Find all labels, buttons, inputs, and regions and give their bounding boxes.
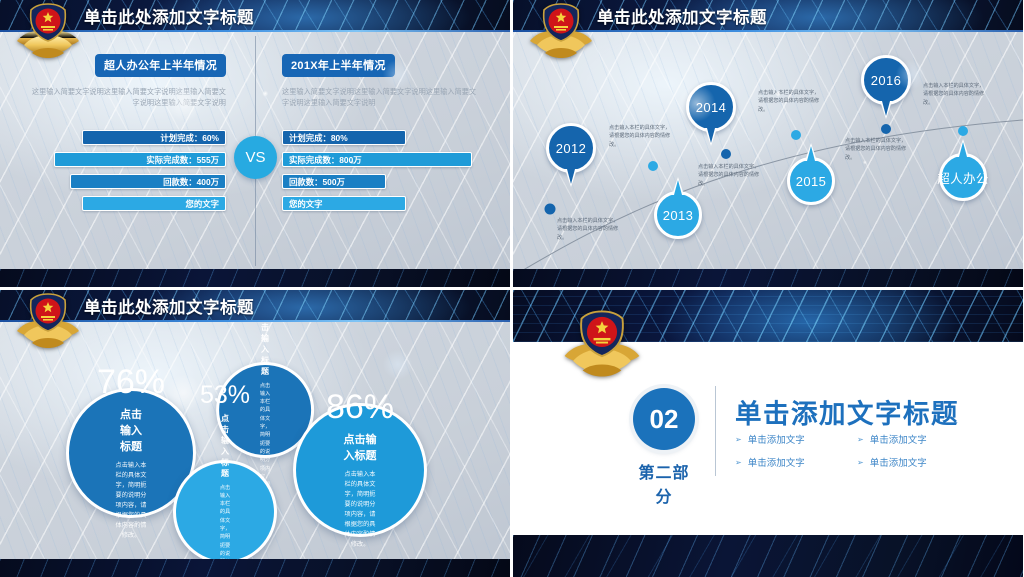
vertical-divider: [255, 36, 256, 266]
bubble-tail: [957, 139, 969, 157]
top-band-background: [513, 290, 1023, 342]
right-description: 这里输入简要文字说明这里输入简要文字说明这里输入简要文字说明这里输入简要文字说明: [282, 86, 482, 108]
left-chip-label: 超人办公年上半年情况: [95, 54, 226, 77]
timeline-bubble-2016[interactable]: 2016: [861, 55, 911, 105]
timeline-dot-3[interactable]: [721, 149, 731, 159]
timeline-bubble-custom[interactable]: 超人办公: [939, 153, 987, 201]
circle-group: 76% 点击输入标题 点击输入本栏的具体文字，简明扼要的说明分项内容，请根据您的…: [0, 322, 510, 559]
timeline-dot-6[interactable]: [958, 126, 968, 136]
slide-thumbnail-grid: 超人办公年上半年情况 这里输入简要文字说明这里输入简要文字说明这里输入简要文字说…: [0, 0, 1024, 577]
stat-body: 点击输入本栏的具体文字，简明扼要的说明分项内容，请根据您的具体内容酌情修改。: [220, 484, 230, 559]
timeline-bubble-label: 超人办公: [937, 168, 989, 187]
stat-title: 点击输入标题: [115, 406, 147, 454]
right-bar-2[interactable]: 实际完成数：800万: [282, 152, 472, 167]
slide-4-top-band: [513, 290, 1023, 342]
header-rule: [513, 30, 1023, 33]
timeline: 点击输入本栏的具体文字，请根据您的具体内容酌情修改。 点击输入本栏的具体文字，请…: [513, 32, 1023, 269]
slide-2-header: [513, 0, 1023, 32]
timeline-curve: [513, 32, 1023, 269]
right-bar-list: 计划完成：80% 实际完成数：800万 回款数：500万 您的文字: [282, 130, 482, 211]
right-chip-label: 201X年上半年情况: [282, 54, 395, 77]
slide-3-footer: [0, 559, 510, 577]
timeline-bubble-2015[interactable]: 2015: [787, 157, 835, 205]
stat-percent: 76%: [97, 365, 165, 399]
section-number-group: 02 第二部分: [633, 388, 695, 507]
vs-badge: VS: [234, 136, 277, 179]
slide-1-header: [0, 0, 510, 32]
timeline-bubble-label: 2013: [663, 208, 694, 223]
slide-2-title: 单击此处添加文字标题: [597, 4, 767, 28]
timeline-dot-5[interactable]: [881, 124, 891, 134]
header-rule: [0, 30, 510, 33]
bubble-tail: [880, 101, 892, 119]
slide-2-footer: [513, 269, 1023, 287]
timeline-bubble-2013[interactable]: 2013: [654, 191, 702, 239]
left-description: 这里输入简要文字说明这里输入简要文字说明这里输入简要文字说明这里输入简要文字说明: [26, 86, 226, 108]
arrow-right-icon: ➢: [735, 435, 742, 444]
stat-percent: 86%: [326, 390, 394, 424]
timeline-bubble-label: 2016: [871, 73, 902, 88]
timeline-bubble-label: 2014: [696, 100, 727, 115]
header-background: [0, 290, 510, 322]
bullet-label: 单击添加文字: [870, 432, 927, 446]
stat-percent: 53%: [200, 383, 250, 408]
section-title: 单击添加文字标题: [735, 392, 959, 431]
slide-3-title: 单击此处添加文字标题: [84, 294, 254, 318]
stat-title: 点击输入标题: [261, 322, 269, 377]
bubble-tail: [705, 128, 717, 146]
timeline-bubble-label: 2015: [796, 174, 827, 189]
arrow-right-icon: ➢: [857, 435, 864, 444]
section-bullet-list: ➢ 单击添加文字 ➢ 单击添加文字 ➢ 单击添加文字 ➢ 单击添加文字: [735, 432, 965, 469]
slide-1-title: 单击此处添加文字标题: [84, 4, 254, 28]
header-background: [0, 0, 510, 32]
bullet-item-4[interactable]: ➢ 单击添加文字: [857, 455, 965, 469]
bullet-item-1[interactable]: ➢ 单击添加文字: [735, 432, 843, 446]
header-rule: [0, 320, 510, 323]
slide-1-body: 超人办公年上半年情况 这里输入简要文字说明这里输入简要文字说明这里输入简要文字说…: [0, 32, 510, 269]
right-bar-4[interactable]: 您的文字: [282, 196, 406, 211]
arrow-right-icon: ➢: [735, 458, 742, 467]
header-background: [513, 0, 1023, 32]
timeline-note-4: 点击输入本栏的具体文字，请根据您的具体内容酌情修改。: [758, 89, 824, 114]
stat-body: 点击输入本栏的具体文字，简明扼要的说明分项内容，请根据您的具体内容酌情修改。: [115, 461, 147, 540]
timeline-note-5: 点击输入本栏的具体文字，请根据您的具体内容酌情修改。: [845, 137, 911, 162]
comparison-right-column: 201X年上半年情况 这里输入简要文字说明这里输入简要文字说明这里输入简要文字说…: [282, 54, 482, 218]
section-divider-line: [715, 386, 716, 476]
bubble-tail: [805, 143, 817, 161]
slide-4-section-divider[interactable]: 02 第二部分 单击添加文字标题 ➢ 单击添加文字 ➢ 单击添加文字 ➢ 单击添…: [513, 290, 1023, 577]
right-bar-1[interactable]: 计划完成：80%: [282, 130, 406, 145]
stat-title: 点击输入标题: [221, 413, 229, 479]
slide-2-timeline[interactable]: 点击输入本栏的具体文字，请根据您的具体内容酌情修改。 点击输入本栏的具体文字，请…: [513, 0, 1023, 287]
slide-3-header: [0, 290, 510, 322]
left-bar-3[interactable]: 回款数：400万: [70, 174, 226, 189]
left-bar-4[interactable]: 您的文字: [82, 196, 226, 211]
slide-3-circles[interactable]: 76% 点击输入标题 点击输入本栏的具体文字，简明扼要的说明分项内容，请根据您的…: [0, 290, 510, 577]
timeline-dot-2[interactable]: [648, 161, 658, 171]
comparison-left-column: 超人办公年上半年情况 这里输入简要文字说明这里输入简要文字说明这里输入简要文字说…: [26, 54, 226, 218]
bullet-item-3[interactable]: ➢ 单击添加文字: [735, 455, 843, 469]
stat-circle-53[interactable]: 53% 点击输入标题 点击输入本栏的具体文字，简明扼要的说明分项内容，请根据您的…: [173, 460, 277, 559]
bubble-tail: [672, 177, 684, 195]
timeline-note-2: 点击输入本栏的具体文字，请根据您的具体内容酌情修改。: [609, 124, 675, 149]
timeline-bubble-2014[interactable]: 2014: [686, 82, 736, 132]
stat-title: 点击输入标题: [342, 431, 378, 463]
section-subtitle: 第二部分: [633, 459, 695, 507]
timeline-note-3: 点击输入本栏的具体文字，请根据您的具体内容酌情修改。: [698, 163, 764, 188]
timeline-note-1: 点击输入本栏的具体文字，请根据您的具体内容酌情修改。: [557, 217, 623, 242]
timeline-bubble-2012[interactable]: 2012: [546, 123, 596, 173]
left-bar-2[interactable]: 实际完成数：555万: [54, 152, 226, 167]
slide-2-body: 点击输入本栏的具体文字，请根据您的具体内容酌情修改。 点击输入本栏的具体文字，请…: [513, 32, 1023, 269]
section-number: 02: [633, 388, 695, 450]
timeline-note-6: 点击输入本栏的具体文字，请根据您的具体内容酌情修改。: [923, 82, 989, 107]
bullet-label: 单击添加文字: [748, 455, 805, 469]
arrow-right-icon: ➢: [857, 458, 864, 467]
bubble-tail: [565, 169, 577, 187]
timeline-dot-4[interactable]: [791, 130, 801, 140]
right-bar-3[interactable]: 回款数：500万: [282, 174, 386, 189]
bullet-label: 单击添加文字: [870, 455, 927, 469]
timeline-bubble-label: 2012: [556, 141, 587, 156]
slide-1-content: 超人办公年上半年情况 这里输入简要文字说明这里输入简要文字说明这里输入简要文字说…: [0, 32, 510, 269]
left-bar-list: 计划完成：60% 实际完成数：555万 回款数：400万 您的文字: [26, 130, 226, 211]
bullet-label: 单击添加文字: [748, 432, 805, 446]
slide-1-comparison[interactable]: 超人办公年上半年情况 这里输入简要文字说明这里输入简要文字说明这里输入简要文字说…: [0, 0, 510, 287]
timeline-dot-1[interactable]: [545, 204, 556, 215]
bullet-item-2[interactable]: ➢ 单击添加文字: [857, 432, 965, 446]
stat-body: 点击输入本栏的具体文字，简明扼要的说明分项内容，请根据您的具体内容酌情修改。: [342, 470, 378, 549]
slide-1-footer: [0, 269, 510, 287]
slide-4-bottom-band: [513, 535, 1023, 577]
left-bar-1[interactable]: 计划完成：60%: [82, 130, 226, 145]
slide-3-body: 76% 点击输入标题 点击输入本栏的具体文字，简明扼要的说明分项内容，请根据您的…: [0, 322, 510, 559]
stat-circle-86[interactable]: 86% 点击输入标题 点击输入本栏的具体文字，简明扼要的说明分项内容，请根据您的…: [293, 403, 427, 537]
